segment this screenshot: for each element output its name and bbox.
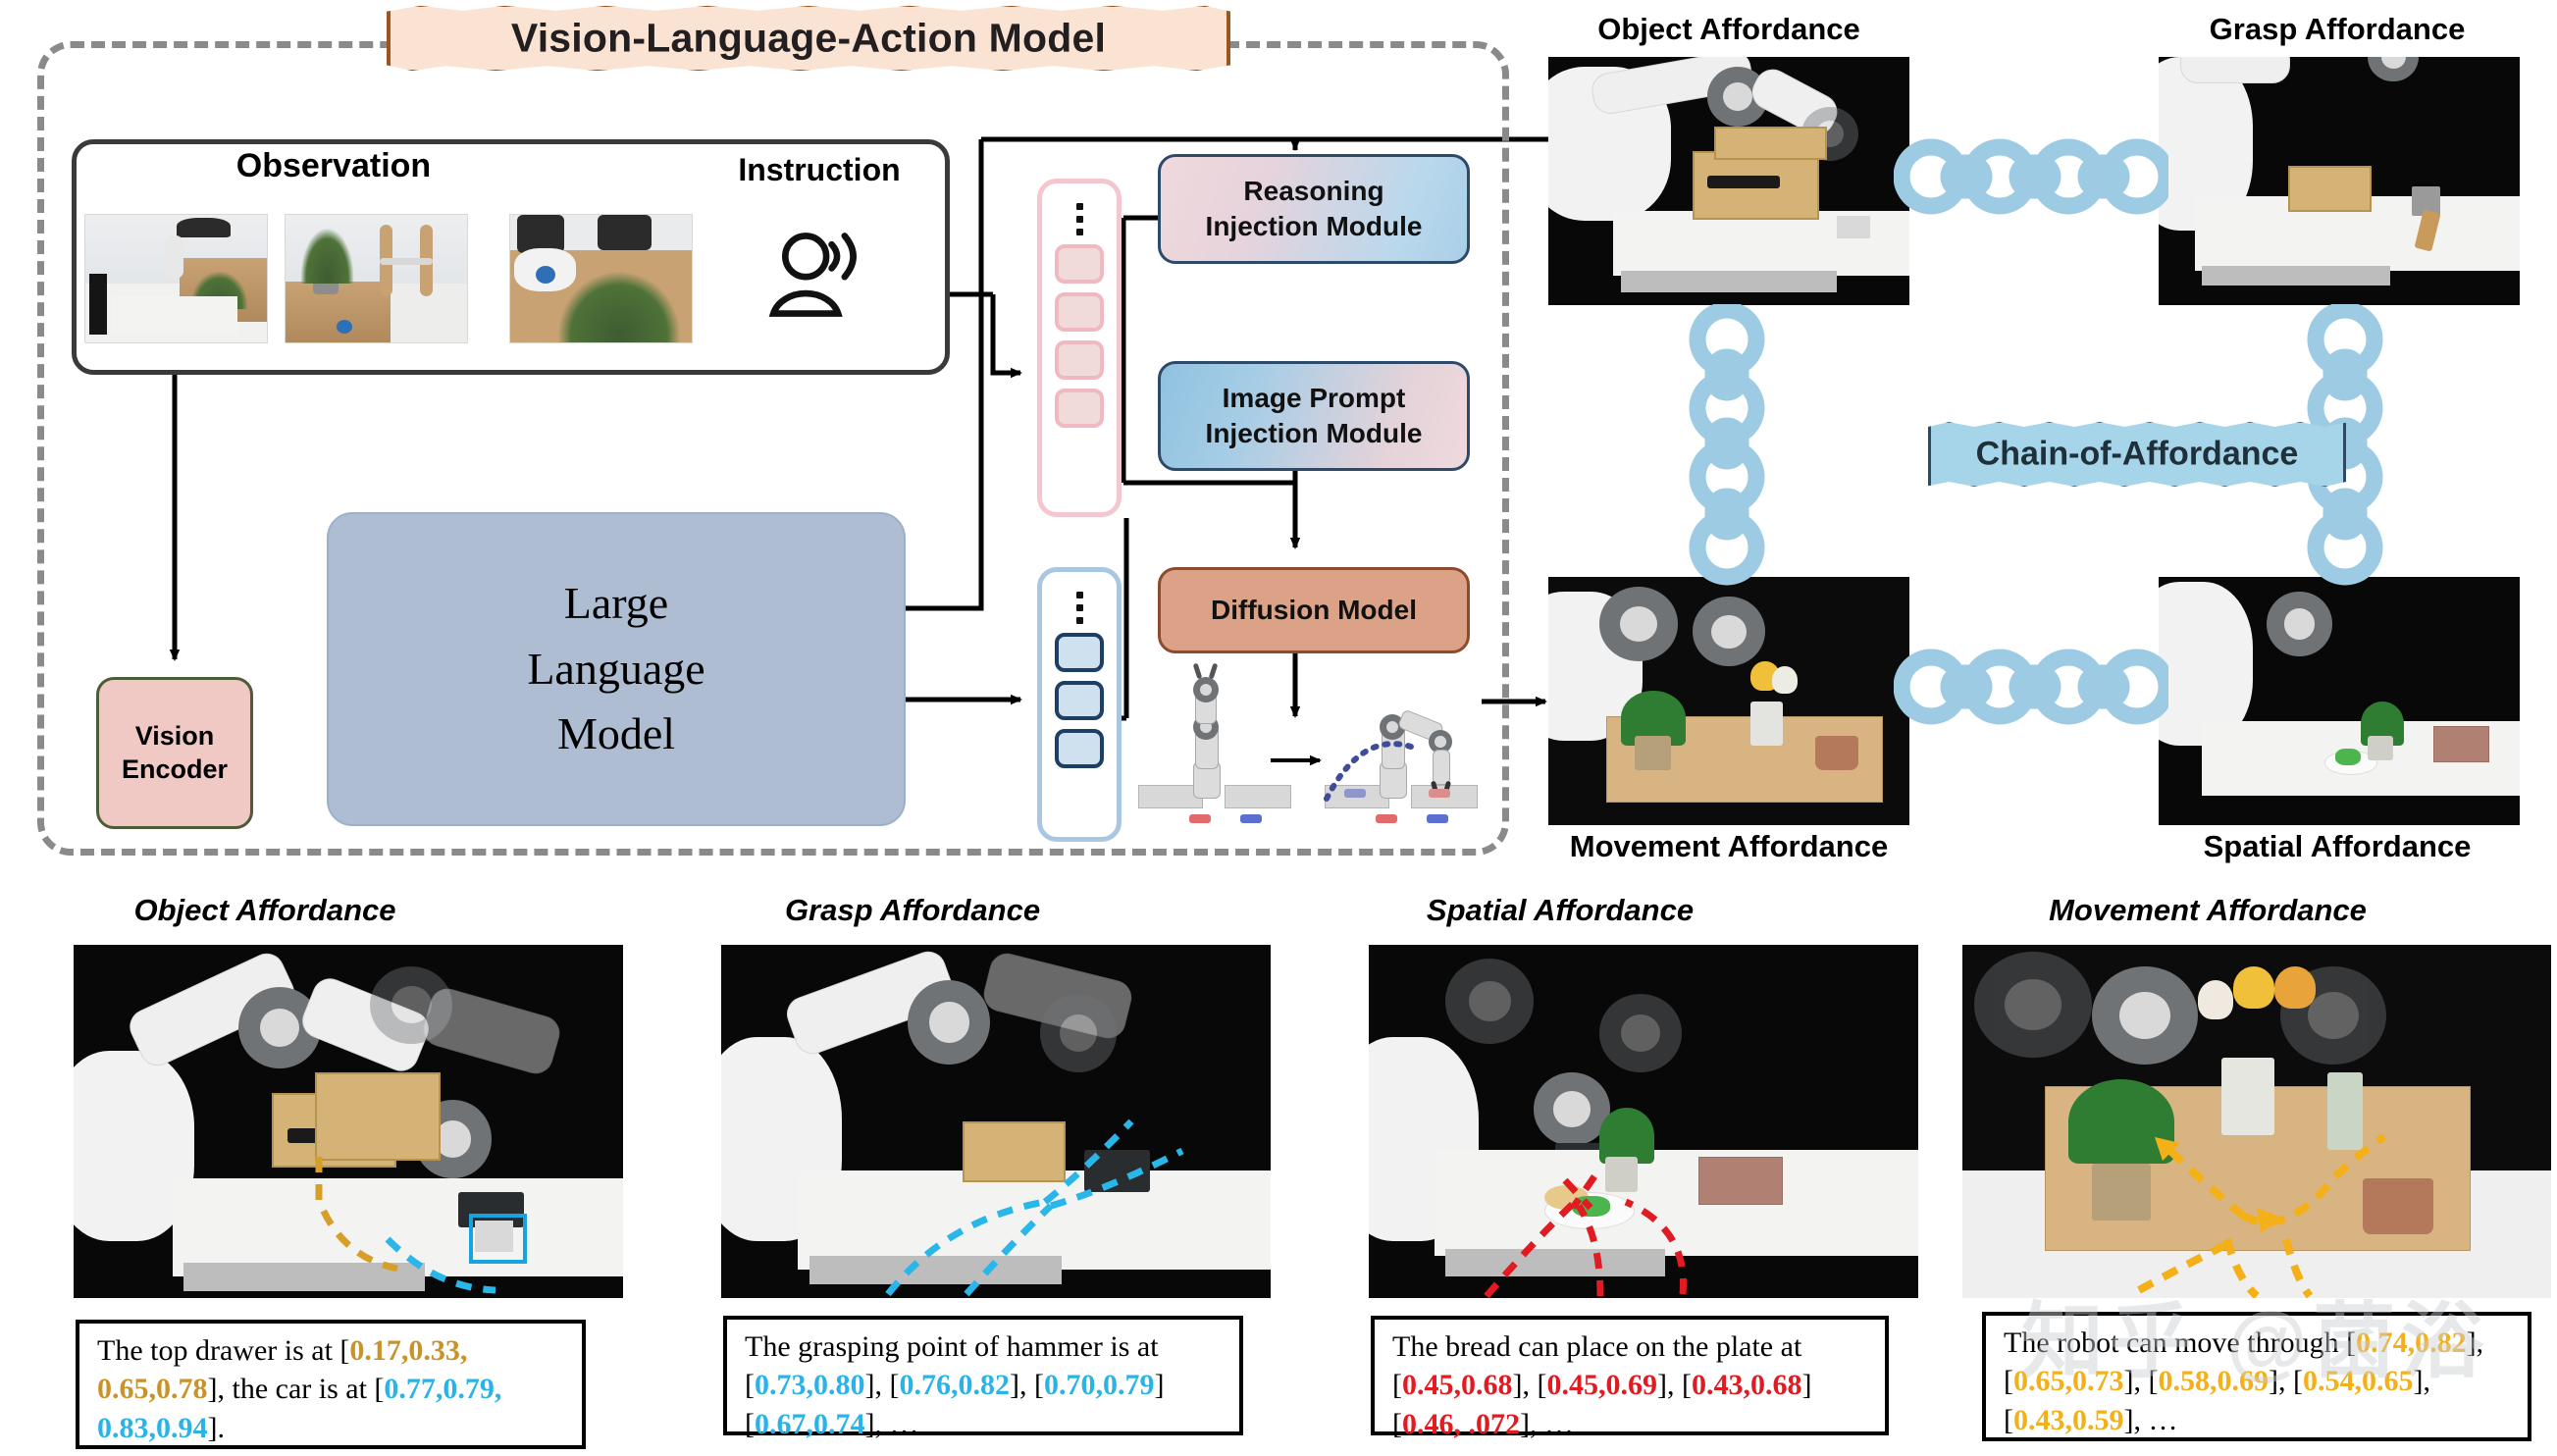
caption-coords: 0.45,0.68 [1402, 1369, 1513, 1401]
caption-coords: 0.76,0.82 [899, 1369, 1010, 1401]
watermark: 知乎 @菌浴 [2021, 1275, 2531, 1442]
caption-coords: 0.73,0.80 [755, 1369, 865, 1401]
example-image-grasp [721, 945, 1271, 1298]
caption-text: ], [ [865, 1369, 900, 1401]
observation-label: Observation [177, 147, 491, 185]
token-chip [1055, 681, 1104, 720]
caption-text: ], … [1520, 1408, 1574, 1440]
vla-title-banner: Vision-Language-Action Model [387, 3, 1230, 74]
example-title-object: Object Affordance [0, 893, 540, 928]
coa-label-grasp: Grasp Affordance [2131, 12, 2543, 47]
vertical-dots-icon [1042, 572, 1117, 624]
coa-panel-spatial-affordance [2159, 577, 2520, 825]
caption-text: ]. [208, 1412, 226, 1444]
observation-thumbnail [84, 214, 268, 343]
example-image-movement [1962, 945, 2551, 1298]
diffusion-output-illustration [1138, 659, 1491, 851]
example-title-spatial: Spatial Affordance [1285, 893, 1835, 928]
caption-text: ], [ [1513, 1369, 1547, 1401]
example-title-grasp: Grasp Affordance [638, 893, 1187, 928]
chain-link-icon [1668, 304, 1786, 589]
reasoning-module-line1: Reasoning [1243, 176, 1383, 206]
llm-line3: Model [557, 702, 675, 767]
caption-text: ], … [865, 1408, 919, 1440]
pink-token-column [1037, 179, 1122, 517]
token-chip [1055, 633, 1104, 672]
instruction-label: Instruction [687, 152, 952, 188]
caption-coords: 0.43,0.68 [1692, 1369, 1802, 1401]
image-prompt-module-line1: Image Prompt [1223, 383, 1406, 413]
large-language-model-block: Large Language Model [327, 512, 906, 826]
example-title-movement: Movement Affordance [1933, 893, 2482, 928]
caption-text: ], [ [1010, 1369, 1044, 1401]
image-prompt-module-line2: Injection Module [1206, 418, 1423, 448]
caption-coords: 0.70,0.79 [1044, 1369, 1155, 1401]
reasoning-module-line2: Injection Module [1206, 211, 1423, 241]
token-chip [1055, 244, 1104, 284]
coa-panel-movement-affordance [1548, 577, 1909, 825]
coa-panel-object-affordance [1548, 57, 1909, 305]
observation-thumbnail [509, 214, 693, 343]
chain-of-affordance-banner: Chain-of-Affordance [1928, 420, 2346, 489]
llm-line1: Large [564, 571, 668, 637]
caption-coords: 0.45,0.69 [1546, 1369, 1657, 1401]
example-caption-grasp: The grasping point of hammer is at [0.73… [723, 1316, 1243, 1435]
vision-encoder-line2: Encoder [122, 754, 228, 787]
caption-text: ], the car is at [ [208, 1373, 385, 1405]
llm-line2: Language [527, 637, 704, 702]
blue-token-column [1037, 567, 1122, 842]
example-caption-spatial: The bread can place on the plate at [0.4… [1371, 1316, 1889, 1435]
token-chip [1055, 340, 1104, 380]
coa-label-movement: Movement Affordance [1523, 829, 1935, 864]
example-image-object [74, 945, 623, 1298]
caption-text: The top drawer is at [ [97, 1334, 349, 1367]
example-image-spatial [1369, 945, 1918, 1298]
caption-text: ], [ [1657, 1369, 1692, 1401]
observation-thumbnail [285, 214, 468, 343]
diffusion-model-module: Diffusion Model [1158, 567, 1470, 653]
vertical-dots-icon [1042, 183, 1117, 235]
person-speaking-icon [760, 221, 868, 329]
diffusion-module-label: Diffusion Model [1211, 593, 1417, 628]
caption-coords: 0.67,0.74 [755, 1408, 865, 1440]
image-prompt-injection-module: Image Prompt Injection Module [1158, 361, 1470, 471]
coa-label-object: Object Affordance [1523, 12, 1935, 47]
vision-encoder-line1: Vision [135, 720, 215, 754]
token-chip [1055, 389, 1104, 428]
chain-link-icon [1894, 118, 2168, 235]
coa-label-spatial: Spatial Affordance [2131, 829, 2543, 864]
example-caption-object: The top drawer is at [0.17,0.33, 0.65,0.… [76, 1320, 586, 1449]
page-title: Vision-Language-Action Model [391, 16, 1226, 62]
token-chip [1055, 292, 1104, 332]
coa-banner-label: Chain-of-Affordance [1931, 436, 2343, 474]
vision-encoder-block: Vision Encoder [96, 677, 253, 829]
chain-link-icon [1894, 628, 2168, 746]
coa-panel-grasp-affordance [2159, 57, 2520, 305]
caption-coords: 0.46, .072 [1402, 1408, 1520, 1440]
token-chip [1055, 729, 1104, 768]
reasoning-injection-module: Reasoning Injection Module [1158, 154, 1470, 264]
